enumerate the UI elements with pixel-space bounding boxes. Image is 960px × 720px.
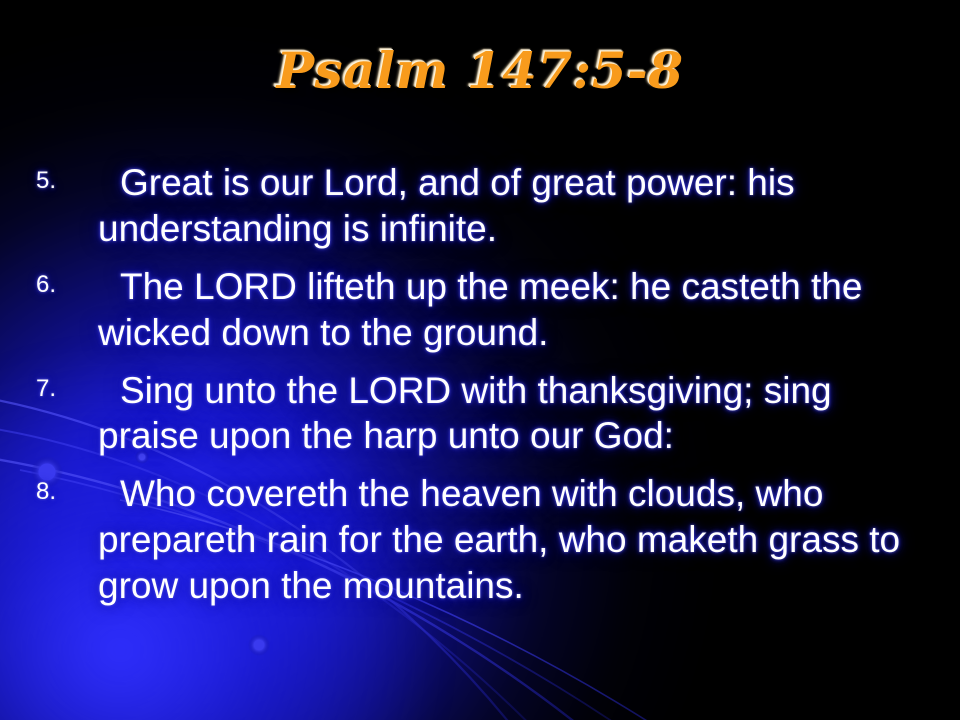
verse-number: 5. — [36, 167, 80, 195]
list-item: 7. Sing unto the LORD with thanksgiving;… — [24, 368, 936, 460]
presentation-slide: Psalm 147:5-8 5. Great is our Lord, and … — [0, 0, 960, 720]
list-item: 6. The LORD lifteth up the meek: he cast… — [24, 264, 936, 356]
list-item: 8. Who covereth the heaven with clouds, … — [24, 471, 936, 609]
verse-text: The LORD lifteth up the meek: he casteth… — [98, 264, 936, 356]
verse-text: Who covereth the heaven with clouds, who… — [98, 471, 936, 609]
verse-number: 8. — [36, 478, 80, 506]
verse-number: 6. — [36, 271, 80, 299]
verse-list: 5. Great is our Lord, and of great power… — [24, 160, 936, 621]
title-container: Psalm 147:5-8 — [0, 44, 960, 98]
page-title: Psalm 147:5-8 — [276, 44, 683, 98]
list-item: 5. Great is our Lord, and of great power… — [24, 160, 936, 252]
verse-number: 7. — [36, 375, 80, 403]
verse-text: Sing unto the LORD with thanksgiving; si… — [98, 368, 936, 460]
verse-text: Great is our Lord, and of great power: h… — [98, 160, 936, 252]
